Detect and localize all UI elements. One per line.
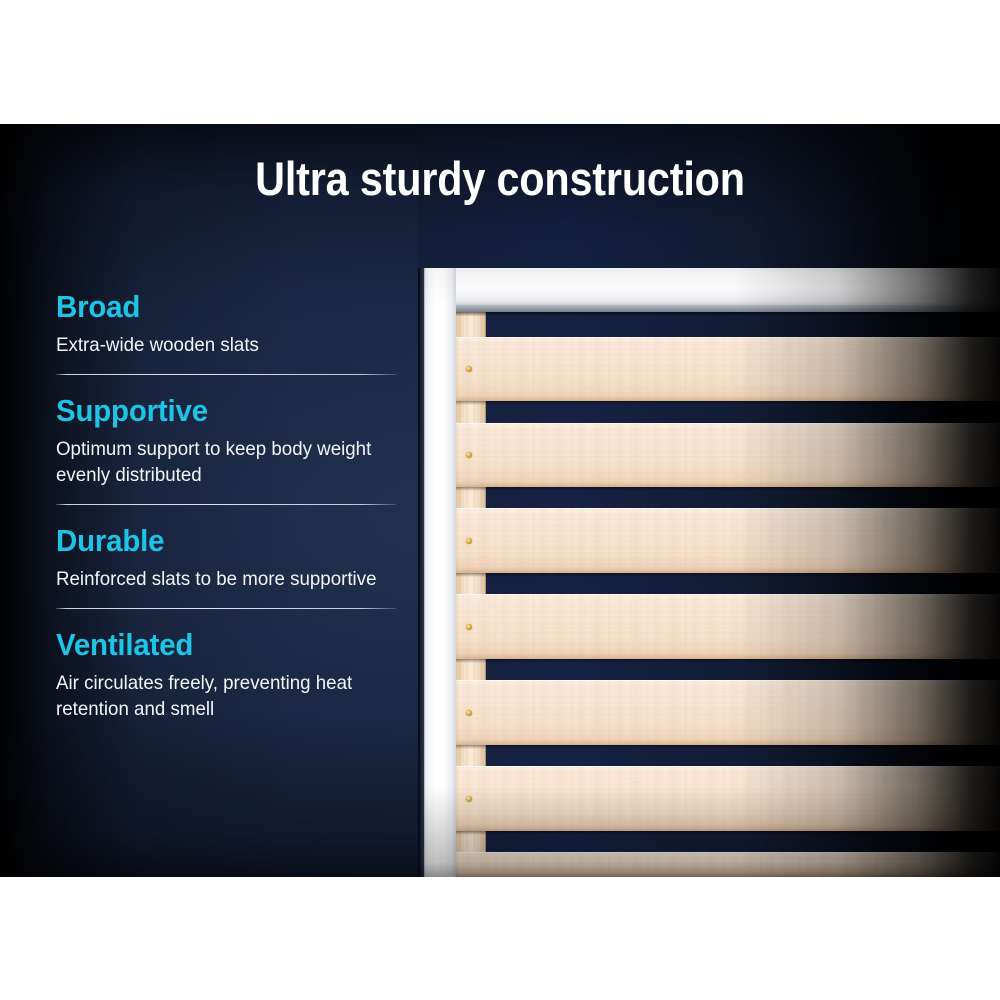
bed-side-rail (424, 268, 456, 877)
bed-top-rail (424, 268, 1000, 305)
feature-list: Broad Extra-wide wooden slats Supportive… (56, 288, 402, 722)
feature-title: Durable (56, 522, 385, 560)
slat (456, 423, 1000, 487)
feature-title: Ventilated (56, 626, 385, 664)
feature-title: Broad (56, 288, 385, 326)
bed-top-rail-shadow (424, 305, 1000, 312)
brass-screw (466, 624, 472, 630)
banner-panel: Ultra sturdy construction Broad Extra-wi… (0, 124, 1000, 877)
product-feature-banner: Ultra sturdy construction Broad Extra-wi… (0, 0, 1000, 1000)
page-title: Ultra sturdy construction (60, 151, 940, 207)
feature-description: Reinforced slats to be more supportive (56, 566, 388, 592)
slat (456, 852, 1000, 877)
feature-item-supportive: Supportive Optimum support to keep body … (56, 392, 402, 488)
feature-divider (56, 504, 396, 505)
feature-divider (56, 608, 396, 609)
slat-group (418, 124, 1000, 877)
slat (456, 766, 1000, 831)
feature-item-ventilated: Ventilated Air circulates freely, preven… (56, 626, 402, 722)
slat (456, 594, 1000, 659)
feature-title: Supportive (56, 392, 385, 430)
brass-screw (466, 452, 472, 458)
brass-screw (466, 710, 472, 716)
slat (456, 680, 1000, 745)
brass-screw (466, 366, 472, 372)
feature-description: Optimum support to keep body weight even… (56, 436, 388, 488)
bed-side-rail-edge-shadow (418, 268, 425, 877)
bed-top-rail-shadow-soft (424, 312, 1000, 316)
feature-item-durable: Durable Reinforced slats to be more supp… (56, 522, 402, 592)
product-photo (418, 124, 1000, 877)
feature-description: Air circulates freely, preventing heat r… (56, 670, 388, 722)
brass-screw (466, 796, 472, 802)
brass-screw (466, 538, 472, 544)
slat (456, 508, 1000, 573)
slat (456, 337, 1000, 401)
feature-description: Extra-wide wooden slats (56, 332, 388, 358)
feature-item-broad: Broad Extra-wide wooden slats (56, 288, 402, 358)
feature-divider (56, 374, 396, 375)
